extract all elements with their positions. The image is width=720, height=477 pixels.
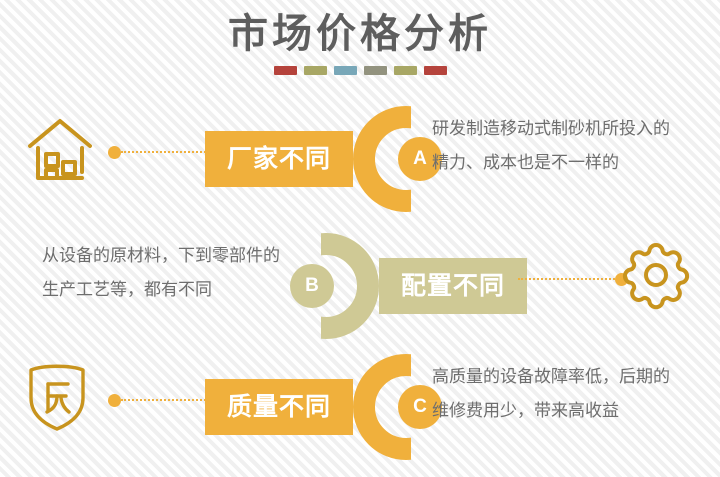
badge-c[interactable]: 质量不同 C (205, 348, 429, 466)
title-divider (0, 66, 720, 75)
section-row-b: 从设备的原材料，下到零部件的生产工艺等，都有不同 B 配置不同 (0, 227, 720, 345)
badge-bar-c: 质量不同 (205, 379, 353, 435)
connector-dot-c (108, 394, 121, 407)
description-b: 从设备的原材料，下到零部件的生产工艺等，都有不同 (42, 239, 290, 307)
header: 市场价格分析 (0, 8, 720, 75)
divider-dash-1 (274, 66, 297, 75)
section-row-c: 质量不同 C 高质量的设备故障率低，后期的维修费用少，带来高收益 (0, 348, 720, 466)
badge-letter-b: B (305, 264, 319, 308)
divider-dash-5 (394, 66, 417, 75)
badge-letter-c: C (413, 385, 427, 429)
factory-house-icon (24, 112, 100, 192)
badge-arc-b (321, 233, 379, 339)
divider-dash-6 (424, 66, 447, 75)
description-c: 高质量的设备故障率低，后期的维修费用少，带来高收益 (432, 360, 680, 428)
divider-dash-2 (304, 66, 327, 75)
description-a: 研发制造移动式制砂机所投入的精力、成本也是不一样的 (432, 112, 680, 180)
badge-a[interactable]: 厂家不同 A (205, 100, 429, 218)
badge-label-c: 质量不同 (227, 379, 331, 435)
connector-dot-a (108, 146, 121, 159)
badge-letter-a: A (413, 137, 427, 181)
page-title: 市场价格分析 (0, 8, 720, 60)
connector-dotted-b (518, 278, 615, 280)
badge-label-b: 配置不同 (401, 258, 505, 314)
gear-icon (620, 239, 696, 319)
badge-label-a: 厂家不同 (227, 131, 331, 187)
connector-line-b (518, 272, 628, 286)
divider-dash-3 (334, 66, 357, 75)
badge-bar-b: 配置不同 (379, 258, 527, 314)
quality-shield-icon (24, 360, 100, 440)
badge-bar-a: 厂家不同 (205, 131, 353, 187)
infographic-page: 市场价格分析 厂家不同 (0, 0, 720, 477)
badge-b[interactable]: B 配置不同 (303, 227, 527, 345)
divider-dash-4 (364, 66, 387, 75)
section-row-a: 厂家不同 A 研发制造移动式制砂机所投入的精力、成本也是不一样的 (0, 100, 720, 218)
